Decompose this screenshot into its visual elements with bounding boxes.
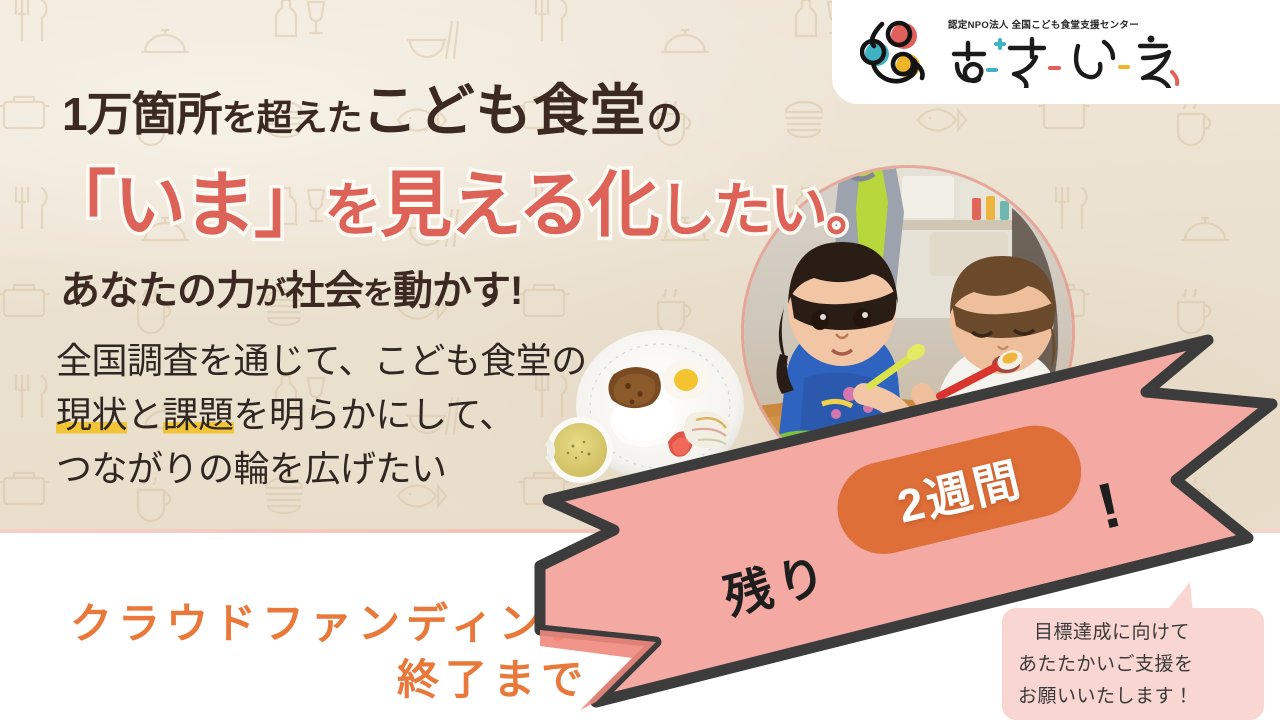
headline-2-keyword: いま <box>114 166 254 246</box>
body-line-1-text: 全国調査を通じて、こども食堂の <box>56 340 587 381</box>
headline-1-part-a: 1万箇所 <box>62 88 222 140</box>
crowdfunding-line-1: クラウドファンディング <box>70 596 595 652</box>
headline-primary: 1万箇所を超えたこども食堂の <box>62 66 682 147</box>
headline-3-part-e: 動かす <box>393 269 510 313</box>
musubie-wordmark <box>944 34 1204 88</box>
headline-3-part-b: が <box>255 276 285 311</box>
body-line-2-post: を明らかにして、 <box>234 394 515 435</box>
headline-1-part-b: を超えた <box>222 97 362 138</box>
ribbon-prefix-label: 残り <box>716 535 837 628</box>
body-line-2-mid: と <box>127 394 163 435</box>
bubble-line-3: お願いいたします！ <box>1018 681 1250 713</box>
body-line-2-highlight-2: 課題 <box>163 394 234 435</box>
headline-2-close-bracket: 」 <box>254 166 324 246</box>
headline-1-part-c: こども食堂 <box>362 79 647 142</box>
crowdfunding-line-2: 終了まで <box>70 652 595 708</box>
banner-root: 1万箇所を超えたこども食堂の 「いま」を見える化したい。 あなたの力が社会を動か… <box>0 0 1280 720</box>
body-line-2-highlight-1: 現状 <box>56 394 127 435</box>
headline-2-period: 。 <box>826 182 878 242</box>
headline-2-open-bracket: 「 <box>44 166 114 246</box>
body-copy: 全国調査を通じて、こども食堂の 現状と課題を明らかにして、 つながりの輪を広げた… <box>56 334 587 496</box>
headline-subline: あなたの力が社会を動かす! <box>60 258 522 316</box>
support-message-bubble: 目標達成に向けて あたたかいご支援を お願いいたします！ <box>1002 608 1264 720</box>
headline-2-rest: 見える化 <box>380 166 658 246</box>
hero-divider-line <box>0 529 1280 533</box>
organization-logo-card[interactable]: 認定NPO法人 全国こども食堂支援センター <box>832 0 1280 104</box>
headline-2-particle: を <box>324 178 380 243</box>
bubble-line-1: 目標達成に向けて <box>1018 617 1250 649</box>
headline-3-part-d: を <box>363 276 393 311</box>
crowdfunding-countdown-label: クラウドファンディング 終了まで <box>70 596 595 708</box>
headline-1-part-d: の <box>647 97 682 138</box>
logo-text-block: 認定NPO法人 全国こども食堂支援センター <box>944 17 1204 88</box>
duration-text: 2週間 <box>890 443 1029 537</box>
body-copy-line-3: つながりの輪を広げたい <box>56 442 587 496</box>
headline-emphasis: 「いま」を見える化したい。 <box>44 146 878 251</box>
headline-3-part-f: ! <box>510 269 522 313</box>
headline-3-part-c: 社会 <box>285 269 363 313</box>
headline-3-part-a: あなたの力 <box>60 269 255 313</box>
headline-2-tail: したい <box>658 178 826 243</box>
body-line-3-text: つながりの輪を広げたい <box>56 448 447 489</box>
bubble-line-2: あたたかいご支援を <box>1018 649 1250 681</box>
musubie-swirl-icon <box>860 16 934 88</box>
body-copy-line-1: 全国調査を通じて、こども食堂の <box>56 334 587 388</box>
organization-subtitle: 認定NPO法人 全国こども食堂支援センター <box>948 17 1204 31</box>
body-copy-line-2: 現状と課題を明らかにして、 <box>56 388 587 442</box>
